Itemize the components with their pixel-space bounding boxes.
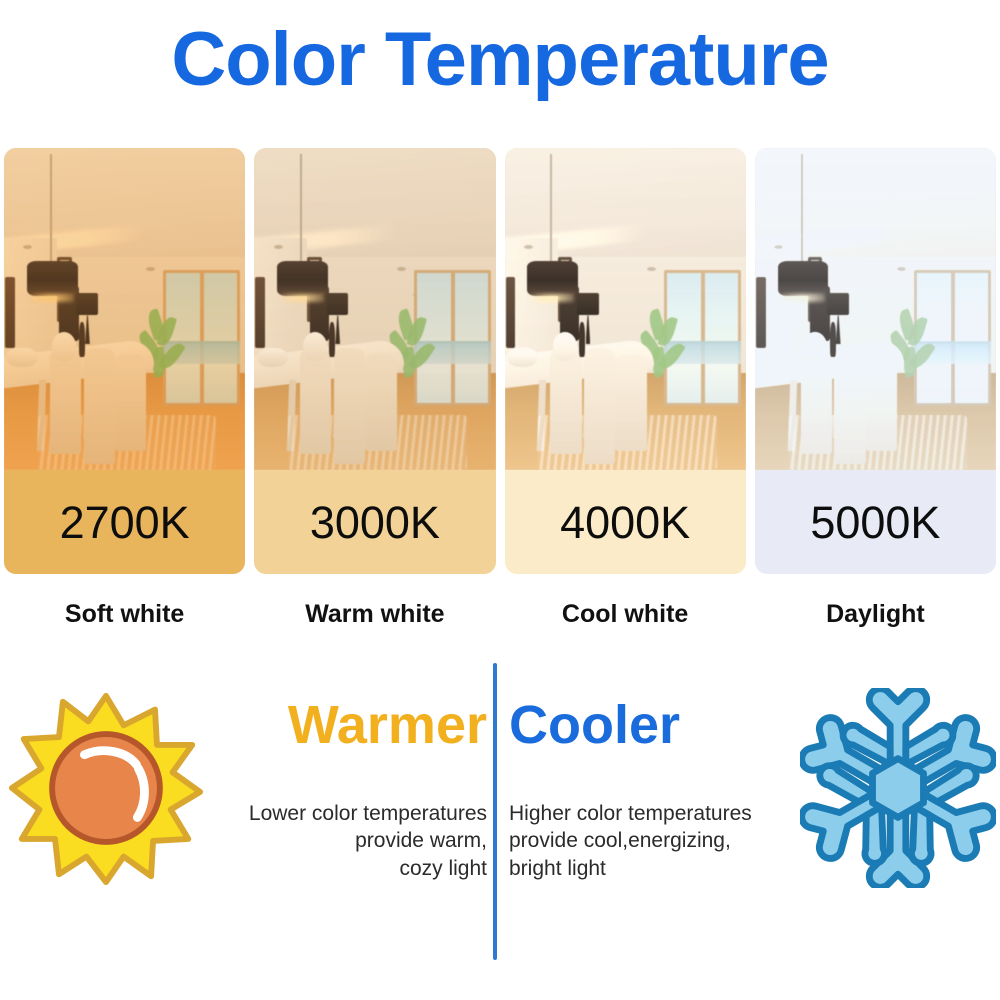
caption-daylight: Daylight <box>755 600 996 629</box>
kelvin-label: 4000K <box>560 500 690 545</box>
kelvin-label: 5000K <box>810 500 940 545</box>
cooler-heading: Cooler <box>509 698 799 752</box>
room-photo-5000k <box>755 148 996 470</box>
kelvin-bar-4000k: 4000K <box>505 470 746 574</box>
warmer-description: Lower color temperatures provide warm, c… <box>180 800 487 882</box>
kelvin-label: 2700K <box>60 500 190 545</box>
room-photo-4000k <box>505 148 746 470</box>
color-temperature-panel-row: 2700K <box>4 148 996 574</box>
caption-cool-white: Cool white <box>505 600 746 629</box>
kelvin-bar-5000k: 5000K <box>755 470 996 574</box>
caption-warm-white: Warm white <box>254 600 495 629</box>
panel-4000k[interactable]: 4000K <box>505 148 746 574</box>
panel-2700k[interactable]: 2700K <box>4 148 245 574</box>
warmer-heading: Warmer <box>205 698 487 752</box>
room-photo-2700k <box>4 148 245 470</box>
kelvin-label: 3000K <box>310 500 440 545</box>
cooler-description: Higher color temperatures provide cool,e… <box>509 800 809 882</box>
caption-row: Soft white Warm white Cool white Dayligh… <box>4 600 996 629</box>
snowflake-icon <box>800 688 996 888</box>
vertical-divider <box>493 663 497 960</box>
panel-5000k[interactable]: 5000K <box>755 148 996 574</box>
kelvin-bar-3000k: 3000K <box>254 470 495 574</box>
caption-soft-white: Soft white <box>4 600 245 629</box>
panel-3000k[interactable]: 3000K <box>254 148 495 574</box>
sun-icon <box>8 688 204 888</box>
page-title: Color Temperature <box>0 22 1000 98</box>
kelvin-bar-2700k: 2700K <box>4 470 245 574</box>
room-photo-3000k <box>254 148 495 470</box>
